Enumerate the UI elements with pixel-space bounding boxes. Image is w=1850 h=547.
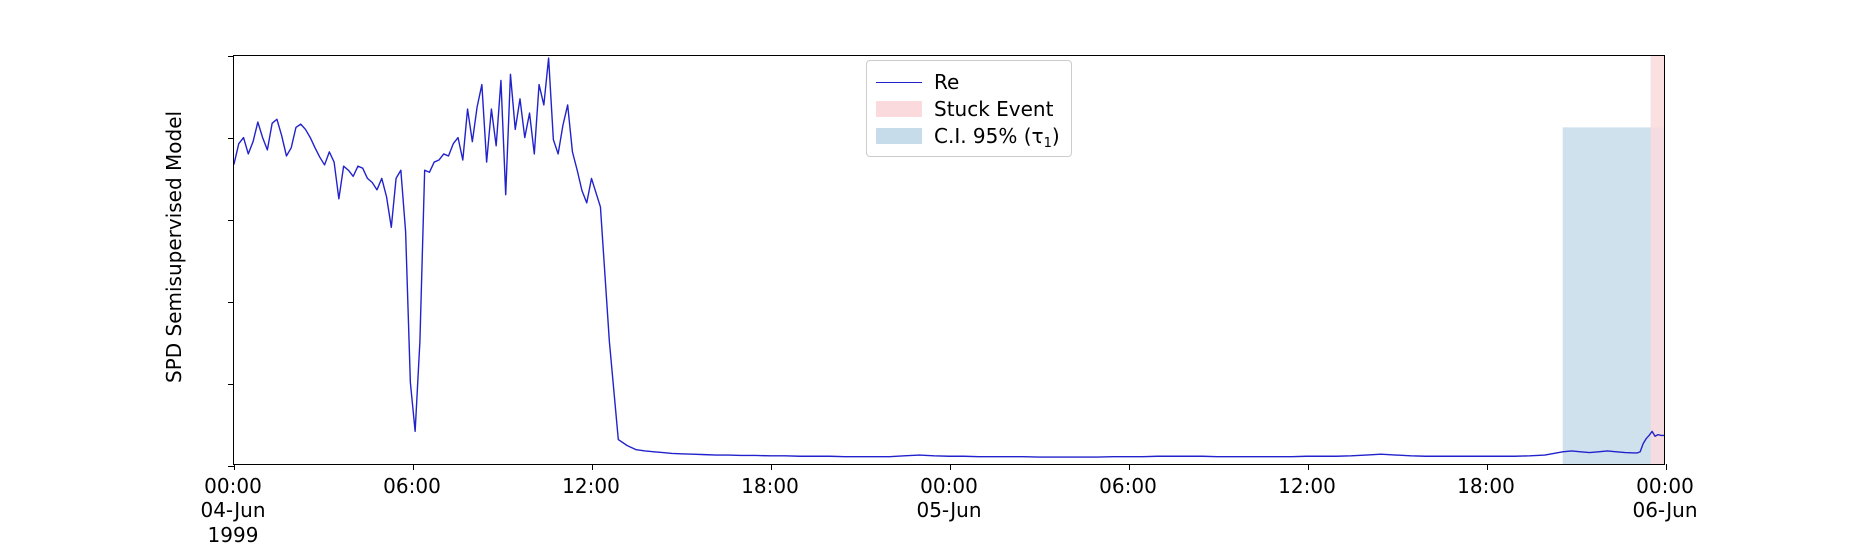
legend-patch-swatch-icon	[876, 128, 922, 144]
y-axis-label: SPD Semisupervised Model	[162, 111, 186, 383]
y-tick-mark	[228, 384, 234, 385]
x-tick-time: 00:00	[920, 474, 978, 498]
legend-item-label: C.I. 95% (τ1)	[934, 126, 1060, 146]
legend-item[interactable]: Re	[876, 68, 1060, 95]
x-tick-label: 06:00	[383, 474, 441, 498]
x-tick-date: 04-Jun	[200, 498, 265, 522]
chart-legend[interactable]: ReStuck EventC.I. 95% (τ1)	[866, 60, 1072, 157]
x-tick-label: 18:00	[741, 474, 799, 498]
x-tick-label: 12:00	[562, 474, 620, 498]
x-tick-label: 12:00	[1278, 474, 1336, 498]
legend-item[interactable]: C.I. 95% (τ1)	[876, 122, 1060, 149]
x-tick-time: 00:00	[1636, 474, 1694, 498]
x-tick-mark	[1129, 464, 1130, 470]
x-tick-time: 18:00	[1457, 474, 1515, 498]
x-tick-mark	[1308, 464, 1309, 470]
x-tick-time: 18:00	[741, 474, 799, 498]
x-tick-mark	[771, 464, 772, 470]
x-tick-mark	[1487, 464, 1488, 470]
legend-label-subscript: 1	[1044, 136, 1052, 151]
x-tick-mark	[592, 464, 593, 470]
x-tick-mark	[1666, 464, 1667, 470]
x-tick-time: 06:00	[1099, 474, 1157, 498]
x-tick-label: 00:0006-Jun	[1632, 474, 1697, 523]
legend-item-label: Stuck Event	[934, 99, 1053, 119]
x-tick-mark	[413, 464, 414, 470]
y-tick-mark	[228, 56, 234, 57]
x-tick-mark	[234, 464, 235, 470]
x-tick-label: 06:00	[1099, 474, 1157, 498]
legend-patch-swatch-icon	[876, 101, 922, 117]
x-tick-label: 00:0004-Jun1999	[200, 474, 265, 547]
legend-item-label: Re	[934, 72, 959, 92]
y-tick-mark	[228, 302, 234, 303]
x-tick-time: 12:00	[1278, 474, 1336, 498]
x-tick-time: 00:00	[204, 474, 262, 498]
y-tick-mark	[228, 138, 234, 139]
y-tick-mark	[228, 220, 234, 221]
x-tick-label: 00:0005-Jun	[916, 474, 981, 523]
x-tick-time: 06:00	[383, 474, 441, 498]
legend-item[interactable]: Stuck Event	[876, 95, 1060, 122]
x-tick-time: 12:00	[562, 474, 620, 498]
x-tick-date: 06-Jun	[1632, 498, 1697, 522]
x-tick-label: 18:00	[1457, 474, 1515, 498]
x-tick-date: 05-Jun	[916, 498, 981, 522]
x-tick-mark	[950, 464, 951, 470]
legend-line-swatch-icon	[876, 73, 922, 91]
x-tick-year: 1999	[200, 523, 265, 547]
figure-canvas: SPD Semisupervised Model 0.00.20.40.60.8…	[0, 0, 1850, 525]
